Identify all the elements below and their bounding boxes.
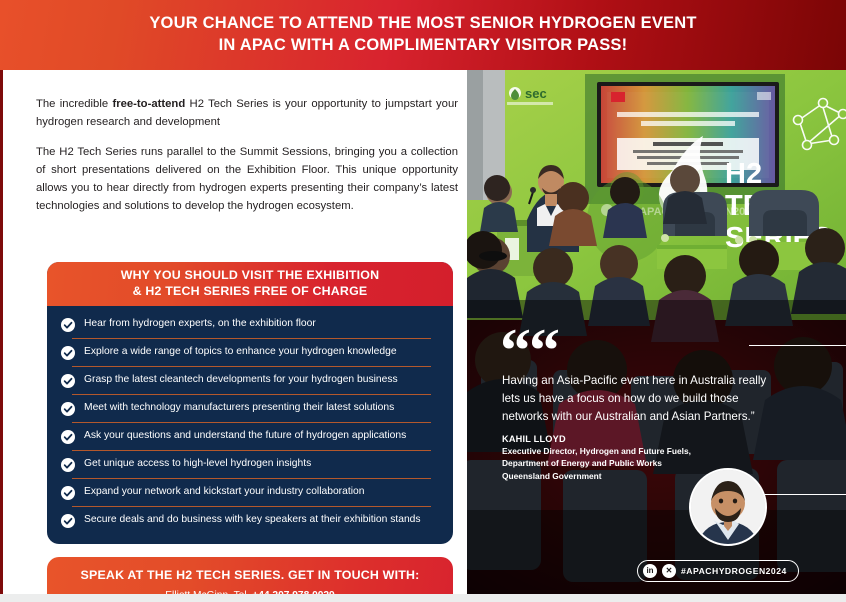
- check-circle-icon: [61, 374, 75, 388]
- why-heading-line-2: & H2 TECH SERIES FREE OF CHARGE: [133, 284, 368, 300]
- list-item: Explore a wide range of topics to enhanc…: [61, 340, 439, 365]
- quote-author-name: KAHIL LLOYD: [502, 434, 566, 444]
- list-item: Ask your questions and understand the fu…: [61, 424, 439, 449]
- hashtag-badge[interactable]: in ✕ #APACHYDROGEN2024: [637, 560, 799, 582]
- x-twitter-icon[interactable]: ✕: [662, 564, 676, 578]
- check-circle-icon: [61, 514, 75, 528]
- flyer-page: YOUR CHANCE TO ATTEND THE MOST SENIOR HY…: [0, 0, 846, 602]
- intro-paragraph-1: The incredible free-to-attend H2 Tech Se…: [36, 95, 458, 132]
- quote-text: Having an Asia-Pacific event here in Aus…: [502, 372, 780, 426]
- list-item: Secure deals and do business with key sp…: [61, 508, 439, 533]
- list-item-label: Secure deals and do business with key sp…: [84, 514, 421, 526]
- bottom-strip: [0, 594, 846, 602]
- stage-brand-h2: H2: [725, 158, 762, 190]
- list-item-label: Get unique access to high-level hydrogen…: [84, 458, 311, 470]
- list-item: Expand your network and kickstart your i…: [61, 480, 439, 505]
- check-circle-icon: [61, 346, 75, 360]
- list-divider: [72, 422, 431, 423]
- banner-line-1: YOUR CHANCE TO ATTEND THE MOST SENIOR HY…: [149, 14, 696, 32]
- quote-role-line-2: Department of Energy and Public Works: [502, 457, 742, 469]
- list-item-label: Ask your questions and understand the fu…: [84, 430, 406, 442]
- check-circle-icon: [61, 430, 75, 444]
- why-visit-box: WHY YOU SHOULD VISIT THE EXHIBITION & H2…: [47, 262, 453, 544]
- banner-headline: YOUR CHANCE TO ATTEND THE MOST SENIOR HY…: [149, 13, 696, 57]
- intro-paragraph-2: The H2 Tech Series runs parallel to the …: [36, 143, 458, 216]
- list-item-label: Explore a wide range of topics to enhanc…: [84, 346, 397, 358]
- check-circle-icon: [61, 458, 75, 472]
- list-item: Get unique access to high-level hydrogen…: [61, 452, 439, 477]
- list-divider: [72, 450, 431, 451]
- list-divider: [72, 366, 431, 367]
- why-visit-header: WHY YOU SHOULD VISIT THE EXHIBITION & H2…: [47, 262, 453, 306]
- check-circle-icon: [61, 318, 75, 332]
- list-item: Grasp the latest cleantech developments …: [61, 368, 439, 393]
- list-item-label: Meet with technology manufacturers prese…: [84, 402, 394, 414]
- list-divider: [72, 394, 431, 395]
- why-heading-line-1: WHY YOU SHOULD VISIT THE EXHIBITION: [121, 268, 380, 284]
- hashtag-label: #APACHYDROGEN2024: [681, 566, 787, 576]
- list-divider: [72, 478, 431, 479]
- avatar: [689, 468, 767, 546]
- check-circle-icon: [61, 486, 75, 500]
- list-divider: [72, 338, 431, 339]
- check-circle-icon: [61, 402, 75, 416]
- left-column: The incredible free-to-attend H2 Tech Se…: [3, 70, 467, 594]
- list-item-label: Expand your network and kickstart your i…: [84, 486, 364, 498]
- intro-text: The incredible free-to-attend H2 Tech Se…: [36, 95, 458, 216]
- speak-box-title: SPEAK AT THE H2 TECH SERIES. GET IN TOUC…: [81, 568, 420, 582]
- conference-photo-panel: H2 TECH SERIES sec: [467, 70, 846, 594]
- list-item: Meet with technology manufacturers prese…: [61, 396, 439, 421]
- intro-p1-before: The incredible: [36, 98, 112, 110]
- list-item-label: Hear from hydrogen experts, on the exhib…: [84, 318, 316, 330]
- intro-p1-bold: free-to-attend: [112, 98, 185, 110]
- banner-line-2: IN APAC WITH A COMPLIMENTARY VISITOR PAS…: [149, 35, 696, 57]
- why-visit-list: Hear from hydrogen experts, on the exhib…: [47, 306, 453, 541]
- top-banner: YOUR CHANCE TO ATTEND THE MOST SENIOR HY…: [0, 0, 846, 70]
- sec-logo: sec: [507, 86, 553, 105]
- list-divider: [72, 506, 431, 507]
- quote-role-line-1: Executive Director, Hydrogen and Future …: [502, 445, 742, 457]
- svg-text:sec: sec: [525, 86, 547, 101]
- list-item-label: Grasp the latest cleantech developments …: [84, 374, 398, 386]
- list-item: Hear from hydrogen experts, on the exhib…: [61, 312, 439, 337]
- linkedin-icon[interactable]: in: [643, 564, 657, 578]
